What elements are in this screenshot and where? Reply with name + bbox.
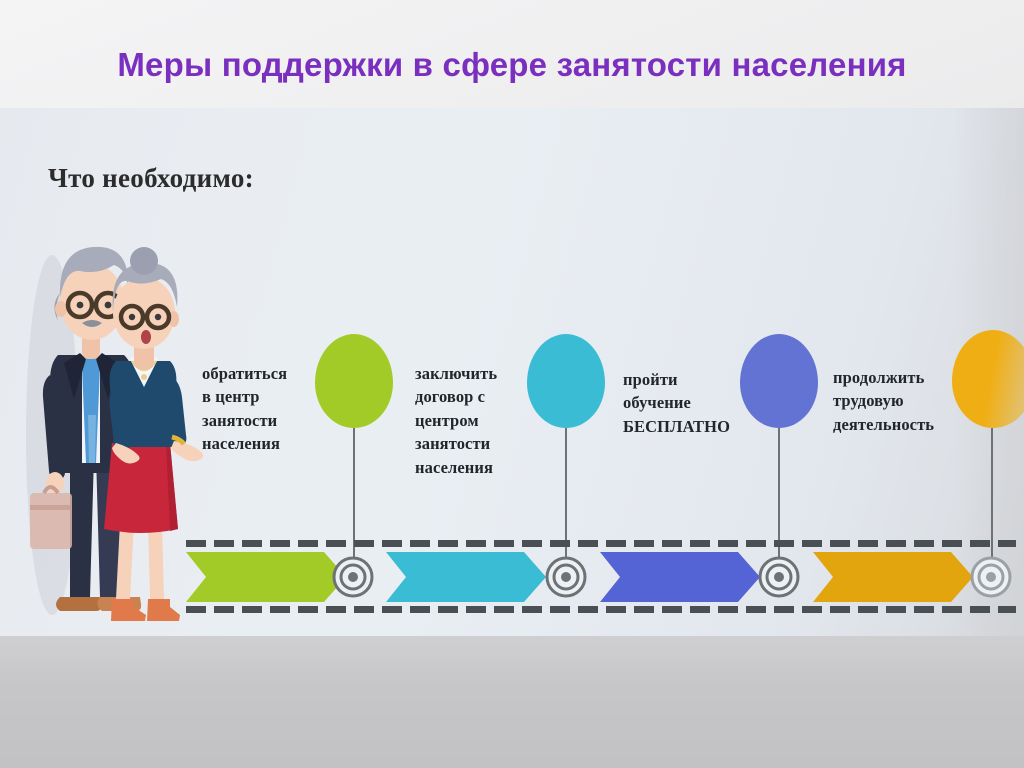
- callout-line: населения: [415, 456, 533, 479]
- bullseye-icon: [545, 556, 587, 598]
- chevron-step-2[interactable]: [386, 552, 546, 602]
- balloon-step-1: [315, 334, 393, 428]
- callout-line: центром: [415, 409, 533, 432]
- callout-step-3: пройти обучение БЕСПЛАТНО: [623, 368, 743, 438]
- callout-step-1: обратиться в центр занятости населения: [202, 362, 318, 456]
- callout-line: занятости: [415, 432, 533, 455]
- title-bar: Меры поддержки в сфере занятости населен…: [0, 36, 1024, 94]
- chevron-step-4[interactable]: [813, 552, 973, 602]
- callout-step-2: заключить договор с центром занятости на…: [415, 362, 533, 479]
- track-rail-top: [186, 540, 1016, 547]
- bullseye-icon: [332, 556, 374, 598]
- callout-line: заключить: [415, 362, 533, 385]
- track-rail-bottom: [186, 606, 1016, 613]
- chevron-step-1[interactable]: [186, 552, 346, 602]
- subtitle-label: Что необходимо:: [48, 163, 254, 194]
- callout-line: обратиться: [202, 362, 318, 385]
- page-title: Меры поддержки в сфере занятости населен…: [117, 46, 906, 84]
- callout-step-4: продолжить трудовую деятельность: [833, 366, 973, 436]
- slide-bottom-band: [0, 636, 1024, 768]
- chevron-step-3[interactable]: [600, 552, 760, 602]
- progress-track: [0, 528, 1024, 628]
- callout-line: деятельность: [833, 413, 973, 436]
- callout-line: трудовую: [833, 389, 973, 412]
- callout-line: обучение: [623, 391, 743, 414]
- callout-line: в центр: [202, 385, 318, 408]
- callout-line: договор с: [415, 385, 533, 408]
- bullseye-icon: [758, 556, 800, 598]
- callout-line: занятости: [202, 409, 318, 432]
- callout-emphasis: БЕСПЛАТНО: [623, 415, 743, 438]
- balloon-step-2: [527, 334, 605, 428]
- callout-line: пройти: [623, 368, 743, 391]
- callout-line: продолжить: [833, 366, 973, 389]
- bullseye-icon: [970, 556, 1012, 598]
- balloon-step-3: [740, 334, 818, 428]
- callout-line: населения: [202, 432, 318, 455]
- slide-root: Меры поддержки в сфере занятости населен…: [0, 0, 1024, 768]
